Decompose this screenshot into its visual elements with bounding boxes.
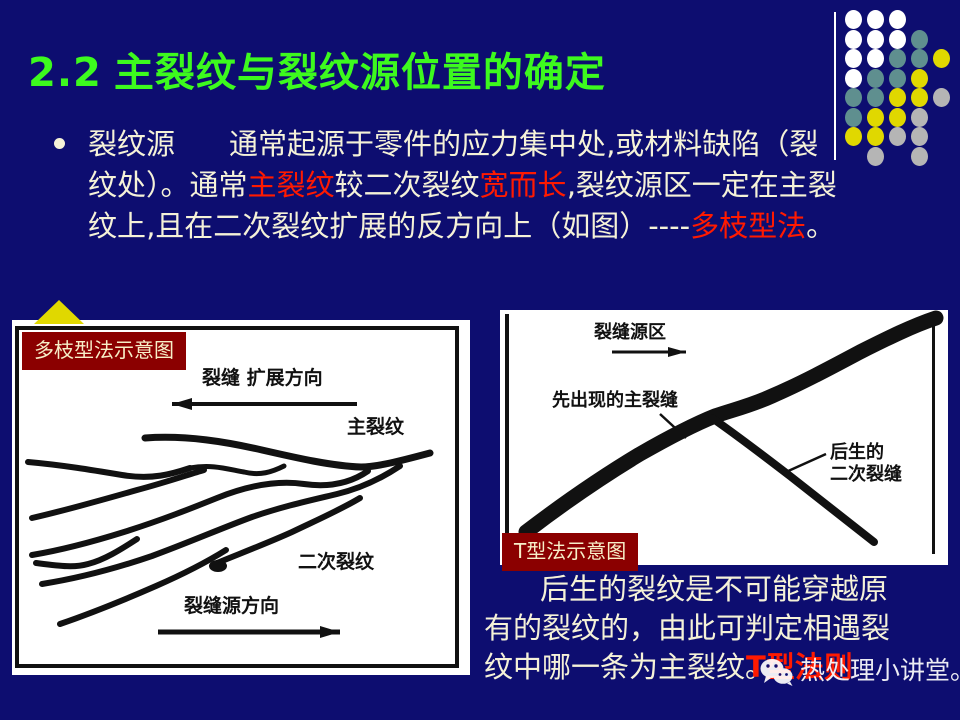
decoration-dot-yellow — [889, 88, 906, 107]
decoration-dot-white — [889, 10, 906, 29]
decoration-dot-teal — [889, 49, 906, 68]
decoration-dot-gray — [911, 108, 928, 127]
decoration-dot-white — [867, 49, 884, 68]
svg-text:先出现的主裂缝: 先出现的主裂缝 — [552, 389, 678, 411]
decoration-dot-white — [845, 49, 862, 68]
decoration-dot-yellow — [933, 49, 950, 68]
decoration-dot-white — [867, 30, 884, 49]
caption-pointer-triangle — [34, 300, 84, 324]
decoration-dot-yellow — [867, 108, 884, 127]
decoration-dot-teal — [911, 49, 928, 68]
body-segment-2: 主裂纹 — [248, 168, 335, 202]
decoration-dot-yellow — [867, 127, 884, 146]
bottom-note-line-2: 有的裂纹的，由此可判定相遇裂 — [484, 609, 954, 648]
decoration-dot-teal — [867, 88, 884, 107]
body-paragraph-text: 裂纹源通常起源于零件的应力集中处‚或材料缺陷（裂纹处）。通常主裂纹较二次裂纹宽而… — [88, 124, 838, 247]
decoration-dot-gray — [911, 147, 928, 166]
label-main-crack: 主裂纹 — [347, 415, 405, 438]
decoration-dot-white — [867, 10, 884, 29]
page-title-number: 2.2 — [28, 50, 102, 96]
decoration-dot-white — [845, 10, 862, 29]
decoration-dot-teal — [845, 108, 862, 127]
decoration-dot-teal — [845, 88, 862, 107]
decoration-dot-teal — [867, 69, 884, 88]
svg-text:二次裂缝: 二次裂缝 — [830, 463, 902, 485]
bottom-note-line-1: 后生的裂纹是不可能穿越原 — [484, 570, 954, 609]
decoration-dot-teal — [911, 30, 928, 49]
body-segment-6: 多枝型法 — [690, 209, 806, 243]
body-segment-3: 较二次裂纹 — [335, 168, 480, 202]
svg-text:裂缝源区: 裂缝源区 — [593, 321, 666, 343]
decoration-dot-yellow — [889, 108, 906, 127]
slide-canvas: 2.2主裂纹与裂纹源位置的确定 裂纹源通常起源于零件的应力集中处‚或材料缺陷（裂… — [0, 0, 960, 720]
figure-multi-branch-diagram: 裂缝 扩展方向 主裂纹 二次裂纹 裂缝源方向 — [12, 320, 470, 675]
body-paragraph: 裂纹源通常起源于零件的应力集中处‚或材料缺陷（裂纹处）。通常主裂纹较二次裂纹宽而… — [48, 124, 838, 247]
decoration-dot-yellow — [845, 127, 862, 146]
label-secondary-crack: 二次裂纹 — [298, 550, 375, 573]
decoration-dot-white — [845, 30, 862, 49]
caption-right-figure: T型法示意图 — [502, 533, 638, 571]
caption-left-figure: 多枝型法示意图 — [22, 332, 186, 370]
decoration-dot-yellow — [911, 88, 928, 107]
watermark-text: 热处理小讲堂。 — [800, 656, 960, 686]
wechat-icon — [760, 656, 794, 686]
bullet-dot-icon — [54, 138, 65, 149]
svg-text:裂缝 扩展方向: 裂缝 扩展方向 — [202, 366, 323, 389]
figure-t-type-diagram: 裂缝源区 先出现的主裂缝 后生的 二次裂缝 — [500, 310, 948, 565]
page-title-text: 主裂纹与裂纹源位置的确定 — [114, 50, 606, 96]
decoration-dot-white — [845, 69, 862, 88]
decoration-dot-gray — [889, 127, 906, 146]
svg-text:后生的: 后生的 — [830, 441, 884, 463]
wechat-watermark: 热处理小讲堂。 — [760, 656, 960, 686]
decoration-dot-gray — [911, 127, 928, 146]
decoration-dot-gray — [933, 88, 950, 107]
dot-grid-decoration — [845, 10, 960, 165]
decoration-dot-gray — [867, 147, 884, 166]
body-segment-0: 裂纹源 — [88, 127, 175, 161]
svg-text:裂缝源方向: 裂缝源方向 — [184, 594, 279, 617]
page-title: 2.2主裂纹与裂纹源位置的确定 — [28, 40, 606, 98]
multi-branch-crack-drawing: 裂缝 扩展方向 主裂纹 二次裂纹 裂缝源方向 — [12, 320, 470, 675]
decoration-dot-yellow — [911, 69, 928, 88]
body-segment-4: 宽而长 — [480, 168, 567, 202]
t-type-crack-drawing: 裂缝源区 先出现的主裂缝 后生的 二次裂缝 — [500, 310, 948, 565]
decoration-dot-white — [889, 30, 906, 49]
body-segment-7: 。 — [806, 209, 835, 243]
decoration-dot-teal — [889, 69, 906, 88]
